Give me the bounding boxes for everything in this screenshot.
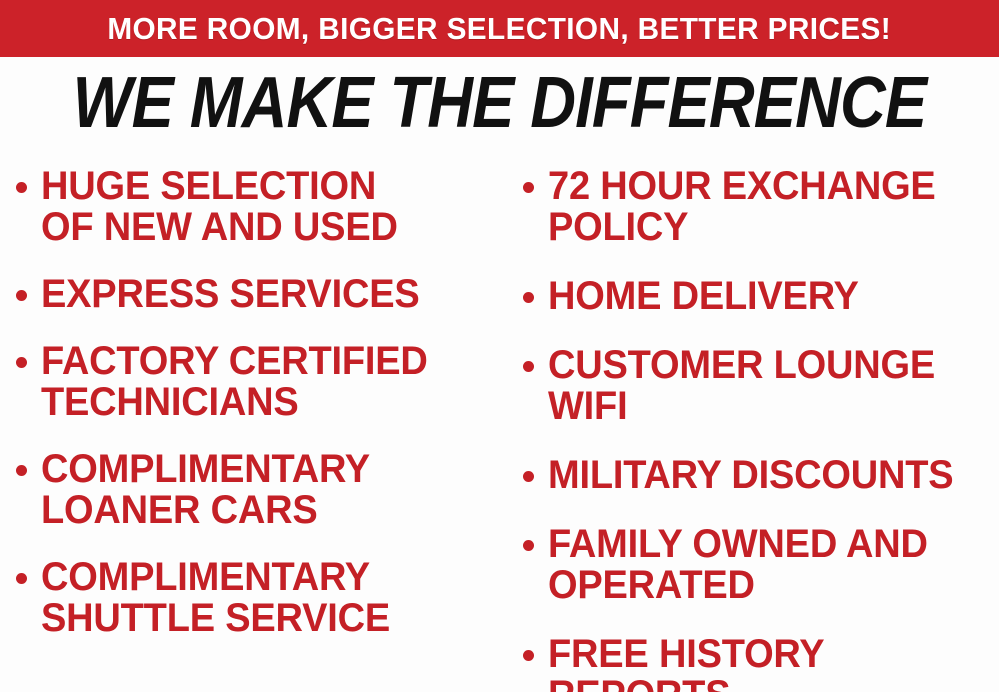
list-item: EXPRESS SERVICES <box>16 274 505 315</box>
headline-title: WE MAKE THE DIFFERENCE <box>60 66 939 140</box>
list-item-label: FACTORY CERTIFIED TECHNICIANS <box>41 341 428 423</box>
list-item: COMPLIMENTARY SHUTTLE SERVICE <box>16 557 505 639</box>
list-item-label: 72 HOUR EXCHANGE POLICY <box>548 166 936 248</box>
bullet-dot-icon <box>523 650 534 661</box>
list-item-label: EXPRESS SERVICES <box>41 274 420 315</box>
top-promo-banner: MORE ROOM, BIGGER SELECTION, BETTER PRIC… <box>0 0 999 57</box>
bullet-dot-icon <box>16 573 27 584</box>
list-item: HUGE SELECTION OF NEW AND USED <box>16 166 505 248</box>
list-item: CUSTOMER LOUNGE WIFI <box>523 345 999 427</box>
bullet-dot-icon <box>523 361 534 372</box>
bullet-dot-icon <box>16 290 27 301</box>
list-item-label: HOME DELIVERY <box>548 276 859 317</box>
features-column-left: HUGE SELECTION OF NEW AND USED EXPRESS S… <box>0 160 505 665</box>
advertisement-banner: MORE ROOM, BIGGER SELECTION, BETTER PRIC… <box>0 0 999 692</box>
list-item-label: FAMILY OWNED AND OPERATED <box>548 524 928 606</box>
list-item: 72 HOUR EXCHANGE POLICY <box>523 166 999 248</box>
list-item: COMPLIMENTARY LOANER CARS <box>16 449 505 531</box>
list-item: FAMILY OWNED AND OPERATED <box>523 524 999 606</box>
promo-banner-text: MORE ROOM, BIGGER SELECTION, BETTER PRIC… <box>108 13 892 45</box>
list-item-label: HUGE SELECTION OF NEW AND USED <box>41 166 398 248</box>
list-item-label: MILITARY DISCOUNTS <box>548 455 953 496</box>
list-item: FREE HISTORY REPORTS <box>523 634 999 692</box>
bullet-dot-icon <box>523 540 534 551</box>
bullet-dot-icon <box>16 465 27 476</box>
bullet-dot-icon <box>16 357 27 368</box>
bullet-dot-icon <box>523 182 534 193</box>
list-item-label: CUSTOMER LOUNGE WIFI <box>548 345 935 427</box>
list-item-label: FREE HISTORY REPORTS <box>548 634 824 692</box>
bullet-dot-icon <box>16 182 27 193</box>
features-column-right: 72 HOUR EXCHANGE POLICY HOME DELIVERY CU… <box>505 160 999 692</box>
list-item: MILITARY DISCOUNTS <box>523 455 999 496</box>
bullet-dot-icon <box>523 292 534 303</box>
list-item-label: COMPLIMENTARY SHUTTLE SERVICE <box>41 557 390 639</box>
list-item: HOME DELIVERY <box>523 276 999 317</box>
list-item: FACTORY CERTIFIED TECHNICIANS <box>16 341 505 423</box>
list-item-label: COMPLIMENTARY LOANER CARS <box>41 449 370 531</box>
bullet-dot-icon <box>523 471 534 482</box>
features-columns: HUGE SELECTION OF NEW AND USED EXPRESS S… <box>0 160 999 692</box>
